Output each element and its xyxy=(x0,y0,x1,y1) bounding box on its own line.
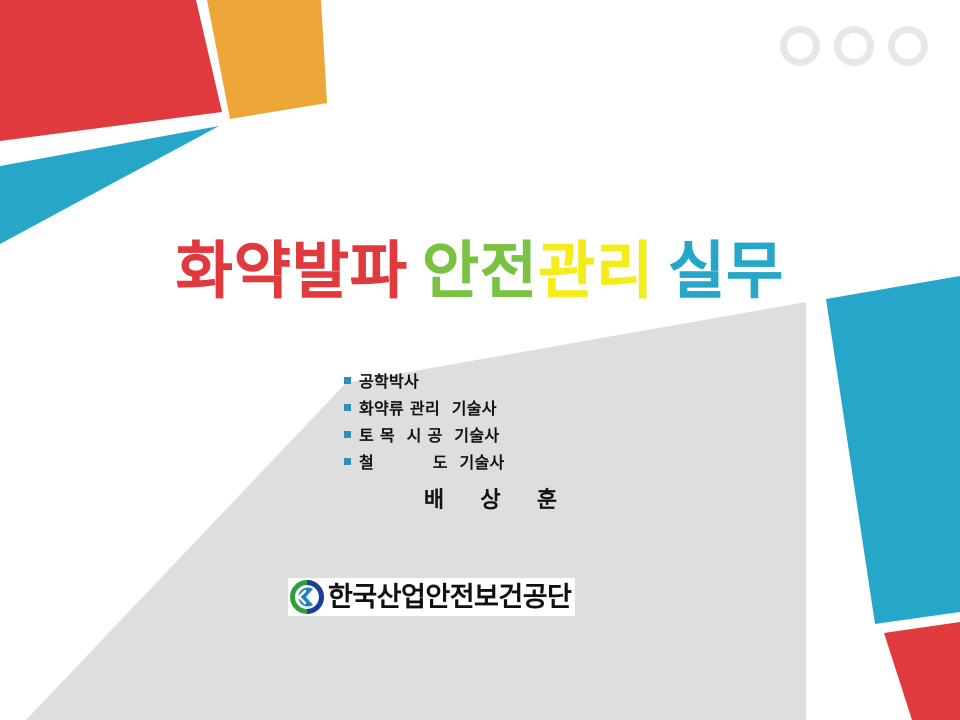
title-segment-blue: 실무 xyxy=(668,234,784,307)
list-item: 토 목 시 공 기술사 xyxy=(344,422,684,446)
square-bullet-icon xyxy=(344,458,351,465)
bottom-right-red-panel xyxy=(884,622,960,720)
top-left-teal-wedge xyxy=(0,126,219,244)
square-bullet-icon xyxy=(344,377,351,384)
organization-logo: 한국산업안전보건공단 xyxy=(288,578,575,616)
credential-label: 철 도 기술사 xyxy=(359,449,505,473)
kosha-circle-logo-icon xyxy=(290,580,324,614)
list-item: 공학박사 xyxy=(344,368,684,392)
title-segment-yellow: 관리 xyxy=(538,234,654,307)
presentation-slide: 화약발파안전관리실무 공학박사 화약류 관리 기술사 토 목 시 공 기술사 철… xyxy=(0,0,960,720)
decorative-rings xyxy=(780,26,928,66)
credential-label: 화약류 관리 기술사 xyxy=(359,395,497,419)
title-segment-green: 안전 xyxy=(422,234,538,307)
top-left-red-panel xyxy=(0,0,222,141)
title-segment-red: 화약발파 xyxy=(176,234,408,307)
credential-label: 토 목 시 공 기술사 xyxy=(359,422,499,446)
square-bullet-icon xyxy=(344,431,351,438)
ring-circle-icon xyxy=(888,26,928,66)
square-bullet-icon xyxy=(344,404,351,411)
organization-name: 한국산업안전보건공단 xyxy=(328,584,571,611)
right-teal-panel xyxy=(826,276,960,624)
credentials-list: 공학박사 화약류 관리 기술사 토 목 시 공 기술사 철 도 기술사 xyxy=(344,368,684,476)
presenter-name: 배 상 훈 xyxy=(344,482,644,514)
top-orange-panel xyxy=(207,0,327,119)
list-item: 화약류 관리 기술사 xyxy=(344,395,684,419)
list-item: 철 도 기술사 xyxy=(344,449,684,473)
slide-title: 화약발파안전관리실무 xyxy=(0,238,960,303)
ring-circle-icon xyxy=(780,26,820,66)
ring-circle-icon xyxy=(834,26,874,66)
credential-label: 공학박사 xyxy=(359,368,419,392)
